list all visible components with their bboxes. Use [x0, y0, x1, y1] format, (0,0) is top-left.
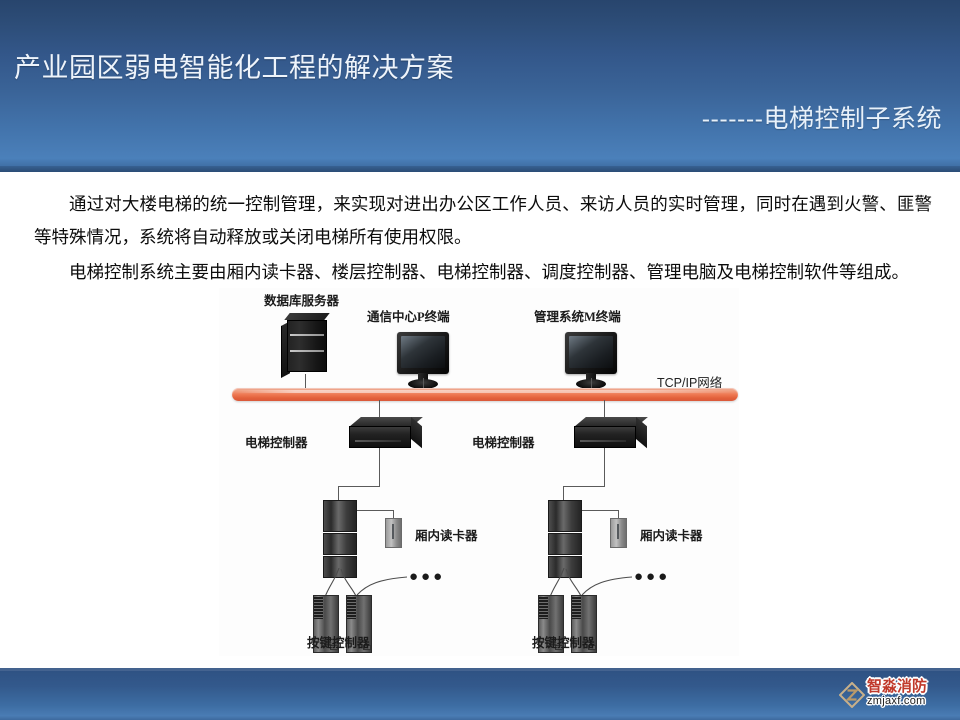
label-comm-terminal: 通信中心P终端: [367, 306, 450, 325]
label-elevator-controller-left: 电梯控制器: [245, 432, 308, 451]
page-title: 产业园区弱电智能化工程的解决方案: [14, 46, 454, 85]
ellipsis-right: ●●●: [634, 570, 670, 585]
page-subtitle: -------电梯控制子系统: [702, 99, 942, 135]
tcpip-bus-highlight: [235, 390, 735, 393]
elevator-controller-right-icon: [574, 416, 648, 452]
connector-right-pcb-to-reader: [582, 510, 618, 511]
paragraph-1: 通过对大楼电梯的统一控制管理，来实现对进出办公区工作人员、来访人员的实时管理，同…: [34, 188, 932, 254]
paragraph-2: 电梯控制系统主要由厢内读卡器、楼层控制器、电梯控制器、调度控制器、管理电脑及电梯…: [34, 256, 932, 289]
connector-right-ctrl-down: [604, 448, 605, 486]
label-card-reader-left: 厢内读卡器: [415, 525, 478, 544]
slide-footer: 智淼消防 zmjaxf.com: [0, 668, 960, 720]
connector-right-ctrl-across: [563, 486, 605, 487]
label-card-reader-right: 厢内读卡器: [640, 525, 703, 544]
ellipsis-left: ●●●: [409, 570, 445, 585]
elevator-control-topology-diagram: 数据库服务器 通信中心P终端 管理系统M终端 TCP/IP网络 电梯控制器: [219, 288, 739, 656]
connector-left-ctrl-down: [379, 448, 380, 486]
watermark-name: 智淼消防: [867, 678, 953, 695]
body-text: 通过对大楼电梯的统一控制管理，来实现对进出办公区工作人员、来访人员的实时管理，同…: [34, 188, 932, 289]
database-server-icon: [281, 318, 329, 374]
card-reader-right-icon: [610, 518, 627, 548]
label-elevator-controller-right: 电梯控制器: [472, 432, 535, 451]
card-reader-left-icon: [385, 518, 402, 548]
connector-left-pcb-to-reader: [357, 510, 393, 511]
diamond-logo-icon: [839, 682, 865, 708]
watermark-url: zmjaxf.com: [867, 695, 953, 708]
connector-left-ctrl-across: [338, 486, 380, 487]
watermark-text: 智淼消防 zmjaxf.com: [867, 678, 953, 708]
label-button-controller-left: 按键控制器: [307, 632, 370, 651]
label-mgmt-terminal: 管理系统M终端: [534, 306, 621, 325]
label-database-server: 数据库服务器: [264, 290, 339, 309]
slide-header: 产业园区弱电智能化工程的解决方案 -------电梯控制子系统: [0, 0, 960, 172]
label-button-controller-right: 按键控制器: [532, 632, 595, 651]
watermark: 智淼消防 zmjaxf.com: [837, 676, 955, 714]
elevator-controller-left-icon: [349, 416, 423, 452]
